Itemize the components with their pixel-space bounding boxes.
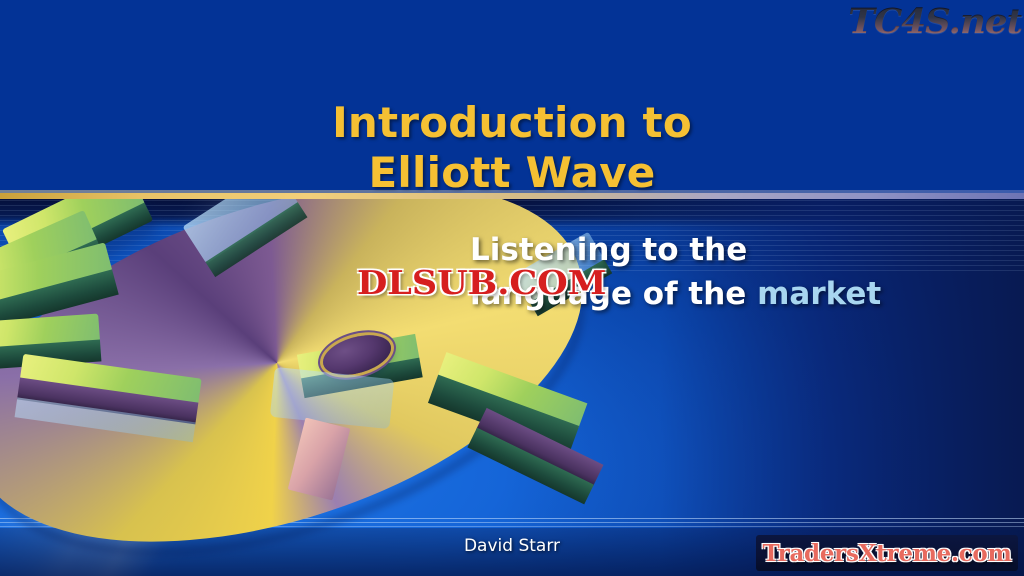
title-line-2: Elliott Wave: [0, 148, 1024, 198]
tc4s-logo[interactable]: TC4S.net: [848, 1, 1022, 42]
dlsub-watermark: DLSUB.COM: [357, 263, 606, 302]
slide-title: Introduction to Elliott Wave: [0, 98, 1024, 197]
subtitle-accent-text: market: [757, 276, 881, 312]
presentation-slide: Introduction to Elliott Wave Listening t…: [0, 0, 1024, 576]
tradersxtreme-logo[interactable]: TradersXtreme.com: [756, 535, 1018, 571]
title-line-1: Introduction to: [332, 98, 692, 147]
tradersxtreme-logo-text: TradersXtreme.com: [762, 540, 1011, 567]
